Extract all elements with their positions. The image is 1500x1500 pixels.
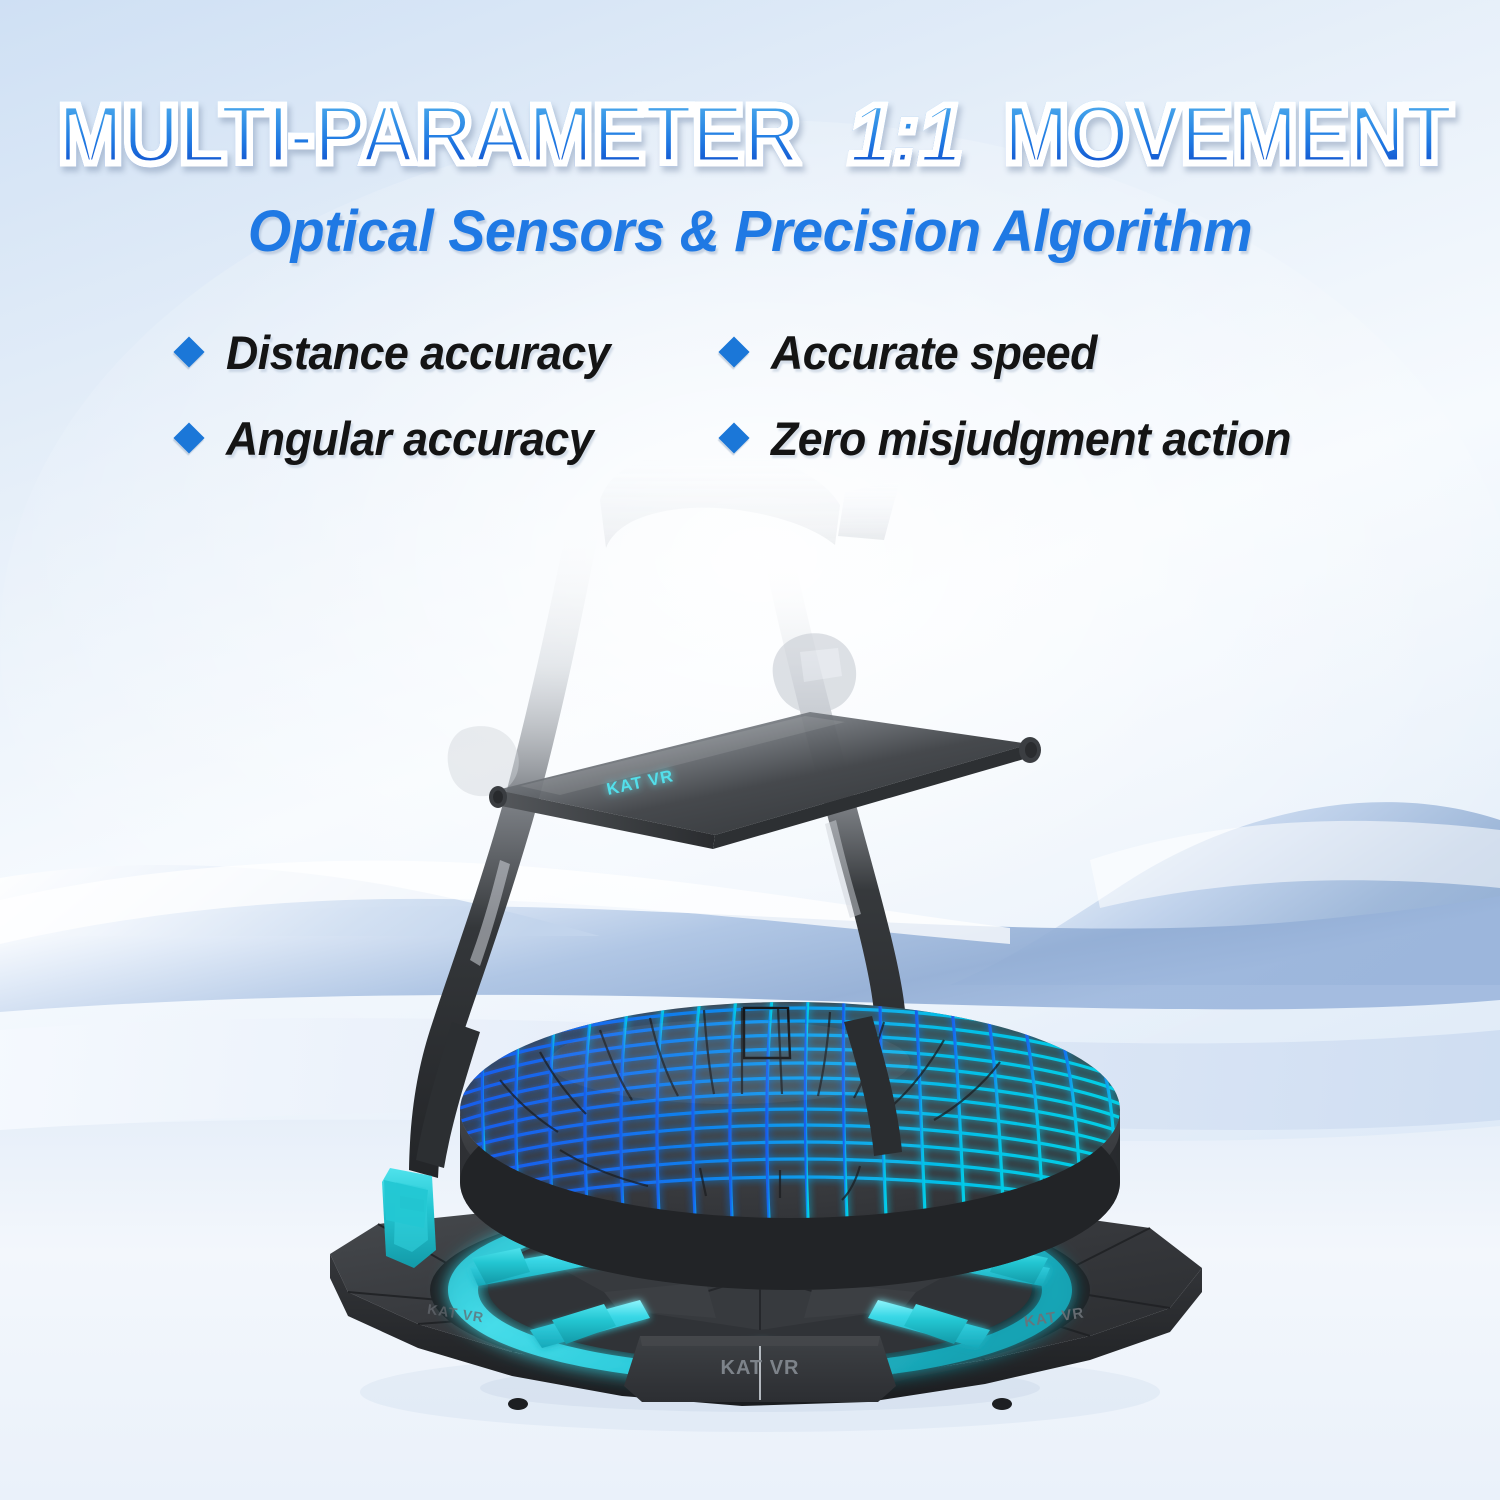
headline-part-3: MOVEMENT bbox=[1003, 92, 1452, 176]
diamond-bullet-icon bbox=[718, 336, 749, 367]
base-front-brand-text: KAT VR bbox=[721, 1357, 800, 1379]
feature-list: Distance accuracy Angular accuracy Accur… bbox=[0, 309, 1500, 481]
walking-deck bbox=[460, 998, 1130, 1290]
frame-joint-bracket-left bbox=[448, 726, 519, 796]
headline-part-1: MULTI-PARAMETER bbox=[57, 92, 799, 176]
frame-joint-bracket bbox=[773, 633, 857, 713]
list-item: Angular accuracy bbox=[178, 395, 723, 481]
feature-column-right: Accurate speed Zero misjudgment action bbox=[723, 309, 1363, 481]
feature-label: Zero misjudgment action bbox=[771, 411, 1291, 466]
support-tray: KAT VR bbox=[489, 712, 1041, 849]
list-item: Distance accuracy bbox=[178, 309, 723, 395]
product-marketing-banner: KAT VR bbox=[0, 0, 1500, 1500]
list-item: Accurate speed bbox=[723, 309, 1363, 395]
feature-label: Distance accuracy bbox=[226, 325, 610, 380]
marketing-copy: MULTI-PARAMETER 1:1 MOVEMENT Optical Sen… bbox=[0, 0, 1500, 481]
feature-label: Accurate speed bbox=[771, 325, 1097, 380]
diamond-bullet-icon bbox=[718, 422, 749, 453]
feature-column-left: Distance accuracy Angular accuracy bbox=[178, 309, 723, 481]
diamond-bullet-icon bbox=[173, 422, 204, 453]
list-item: Zero misjudgment action bbox=[723, 395, 1363, 481]
page-subtitle: Optical Sensors & Precision Algorithm bbox=[30, 198, 1470, 265]
page-title: MULTI-PARAMETER 1:1 MOVEMENT bbox=[0, 92, 1500, 176]
diamond-bullet-icon bbox=[173, 336, 204, 367]
headline-part-2: 1:1 bbox=[849, 92, 963, 176]
feature-label: Angular accuracy bbox=[226, 411, 593, 466]
